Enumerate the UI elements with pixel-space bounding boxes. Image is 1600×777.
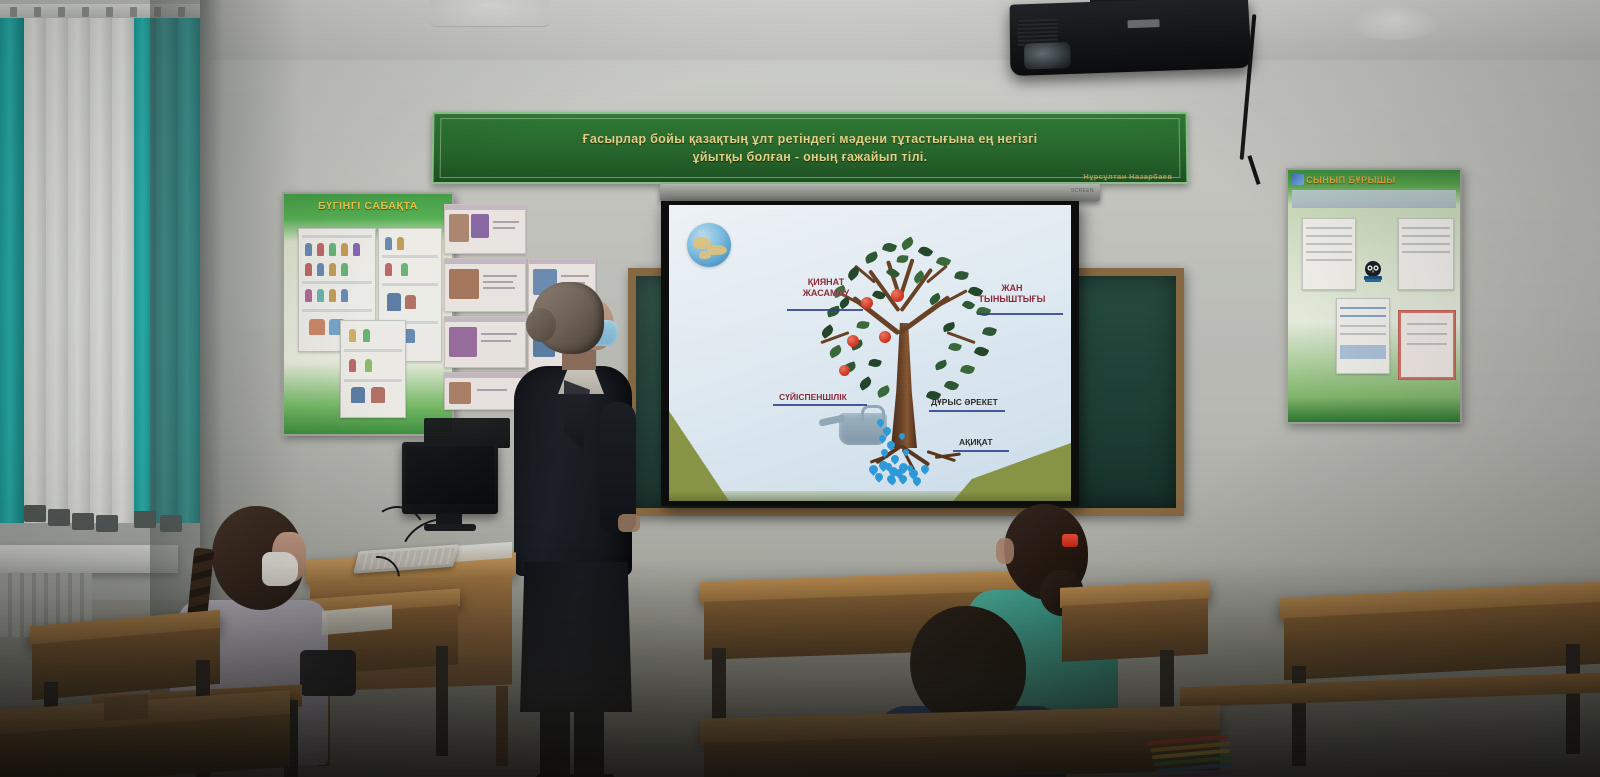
poster-board-right: СЫНЫП БҰРЫШЫ (1286, 168, 1462, 424)
ceiling-lamp (1350, 6, 1440, 40)
projector-lens (1024, 42, 1071, 70)
wall-banner: Ғасырлар бойы қазақтың ұлт ретіндегі мәд… (431, 112, 1188, 184)
desk-divider (104, 694, 148, 721)
banner-line-1: Ғасырлар бойы қазақтың ұлт ретіндегі мәд… (582, 130, 1037, 148)
owl-icon (1360, 258, 1386, 284)
water-pool (869, 461, 947, 487)
tree-fruit (891, 289, 904, 302)
slide-rule-top-right (977, 313, 1063, 315)
face-mask-icon (262, 552, 298, 586)
poster-left-title: БҮГІНГІ САБАҚТА (284, 200, 452, 212)
tree-illustration (787, 235, 1027, 485)
slide-rule-mid-left (773, 404, 867, 406)
slide-label-bottom-right: АҚИҚАТ (959, 437, 993, 447)
classroom-photo: Ғасырлар бойы қазақтың ұлт ретіндегі мәд… (0, 0, 1600, 777)
projection-screen-housing[interactable]: SCREEN (660, 184, 1100, 201)
slide-rule-top-left (787, 309, 863, 311)
poster-right-logo-icon (1291, 174, 1304, 185)
tree-fruit (839, 365, 850, 376)
slide-label-mid-right: ДҰРЫС ӘРЕКЕТ (931, 397, 998, 407)
teacher-skirt (520, 562, 632, 712)
poster-right-title: СЫНЫП БҰРЫШЫ (1306, 175, 1396, 185)
teacher-hand (618, 514, 640, 532)
desktop-monitor[interactable] (402, 442, 498, 514)
slide-surface: KZ (669, 205, 1071, 501)
teacher (496, 282, 646, 772)
hair-clip-icon (1062, 534, 1078, 547)
slide-corner-accent-left (669, 411, 729, 501)
tree-fruit (879, 331, 891, 343)
slide-label-top-right: ЖАН ТЫНЫШТЫҒЫ (977, 283, 1047, 306)
tree-fruit (861, 297, 873, 309)
poster-board-left: БҮГІНГІ САБАҚТА (282, 192, 454, 436)
slide-bottom-band (669, 491, 1071, 501)
monitor-screen (406, 446, 494, 504)
projection-screen: KZ (661, 201, 1079, 506)
slide-label-top-left: ҚИЯНАТ ЖАСАМАУ (795, 277, 857, 300)
ceiling-projector (1010, 0, 1252, 76)
teacher-arm (600, 402, 636, 532)
globe-icon: KZ (687, 223, 731, 267)
banner-attribution: Нұрсұлтан Назарбаев (1083, 172, 1172, 181)
projector-badge (1127, 19, 1159, 28)
banner-line-2: ұйытқы болған - оның ғажайып тілі. (693, 148, 928, 166)
slide-label-mid-left: СҮЙІСПЕНШІЛІК (779, 392, 847, 402)
tree-fruit (847, 335, 859, 347)
slide-rule-mid-right (929, 410, 1005, 412)
slide-rule-bottom-right (953, 450, 1009, 452)
ceiling-vent (430, 0, 550, 27)
